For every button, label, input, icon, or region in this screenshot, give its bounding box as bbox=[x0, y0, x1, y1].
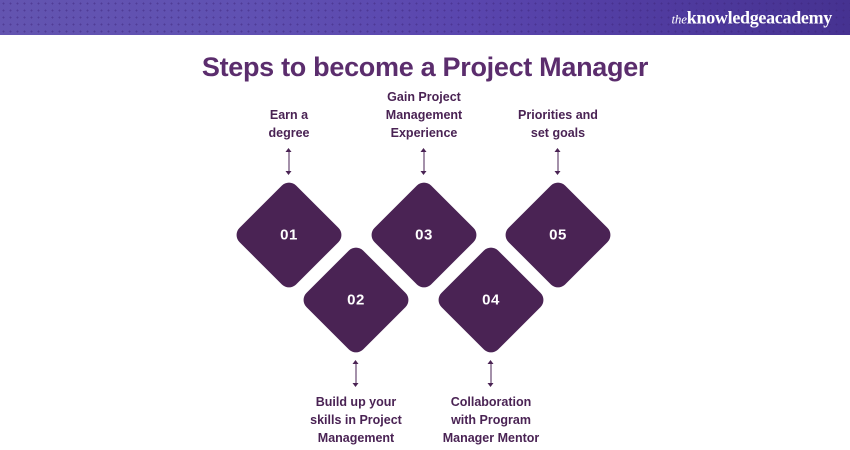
step-connector-arrow bbox=[554, 148, 563, 175]
arrow-head-down bbox=[353, 383, 359, 387]
step-number: 03 bbox=[364, 227, 484, 244]
step-connector-arrow bbox=[487, 360, 496, 387]
arrow-shaft bbox=[557, 151, 559, 172]
step-connector-arrow bbox=[420, 148, 429, 175]
step-label-line: Manager Mentor bbox=[406, 429, 576, 447]
step-number: 01 bbox=[229, 227, 349, 244]
step-connector-arrow bbox=[285, 148, 294, 175]
step-number: 02 bbox=[296, 292, 416, 309]
steps-diagram: 01Earn adegree02Build up yourskills in P… bbox=[0, 0, 850, 450]
arrow-shaft bbox=[423, 151, 425, 172]
step-label-line: with Program bbox=[406, 411, 576, 429]
arrow-shaft bbox=[355, 363, 357, 384]
step-label-line: Gain Project bbox=[339, 88, 509, 106]
step-label: Priorities andset goals bbox=[473, 106, 643, 142]
step-label-line: set goals bbox=[473, 124, 643, 142]
arrow-shaft bbox=[288, 151, 290, 172]
step-connector-arrow bbox=[352, 360, 361, 387]
arrow-head-down bbox=[421, 171, 427, 175]
step-number: 05 bbox=[498, 227, 618, 244]
step-label-line: Collaboration bbox=[406, 393, 576, 411]
arrow-shaft bbox=[490, 363, 492, 384]
arrow-head-down bbox=[488, 383, 494, 387]
arrow-head-down bbox=[555, 171, 561, 175]
step-label-line: Priorities and bbox=[473, 106, 643, 124]
step-label: Collaborationwith ProgramManager Mentor bbox=[406, 393, 576, 447]
arrow-head-down bbox=[286, 171, 292, 175]
step-number: 04 bbox=[431, 292, 551, 309]
